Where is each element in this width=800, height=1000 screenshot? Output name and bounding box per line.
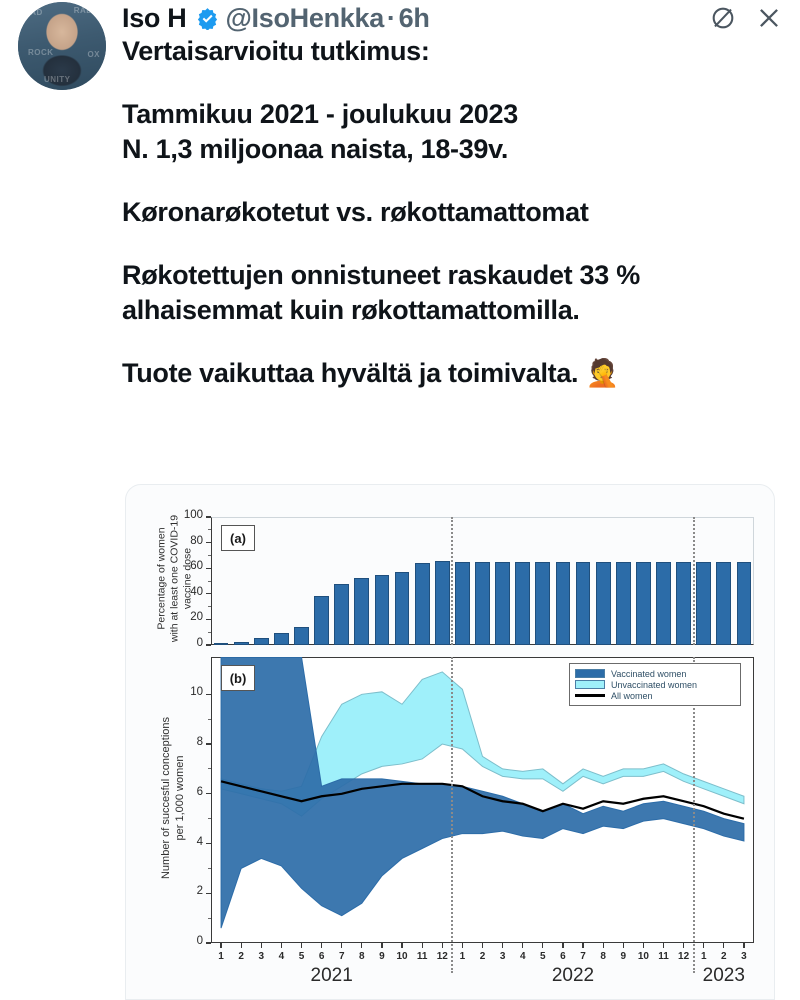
panel-b-ytick — [206, 743, 211, 744]
xtick — [261, 943, 262, 948]
header-actions — [710, 0, 782, 36]
panel-a-yminortick — [208, 606, 211, 607]
xtick — [603, 943, 604, 948]
panel-a-ylabel: Percentage of womenwith at least one COV… — [156, 494, 195, 664]
avatar-text-5: UNITY — [44, 75, 71, 84]
panel-a-yminortick — [208, 555, 211, 556]
xtick-label-month: 9 — [614, 951, 632, 962]
xtick — [281, 943, 282, 948]
panel-b-ytick — [206, 942, 211, 943]
tweet-line: Tammikuu 2021 - joulukuu 2023 — [122, 97, 782, 133]
legend-item: Unvaccinated women — [575, 679, 734, 690]
tweet-paragraph: Røkotettujen onnistuneet raskaudet 33 %a… — [122, 258, 782, 329]
bar-vaccination-rate — [214, 643, 229, 645]
xtick — [743, 943, 744, 948]
tweet-paragraph: Køronarøkotetut vs. røkottamattomat — [122, 195, 782, 231]
xtick-label-month: 4 — [514, 951, 532, 962]
tweet-paragraph: Tuote vaikuttaa hyvältä ja toimivalta. 🤦 — [122, 356, 782, 392]
tweet-paragraph: Vertaisarvioitu tutkimus: — [122, 34, 782, 70]
avatar-text-4: OX — [87, 50, 100, 59]
xtick — [703, 943, 704, 948]
xtick-label-month: 5 — [534, 951, 552, 962]
xtick — [482, 943, 483, 948]
panel-a-ytick — [206, 542, 211, 543]
bar-vaccination-rate — [334, 584, 349, 645]
xtick — [341, 943, 342, 948]
panel-a-yminortick — [208, 529, 211, 530]
legend-swatch — [575, 680, 605, 689]
bar-vaccination-rate — [375, 575, 390, 645]
tweet-paragraph: Tammikuu 2021 - joulukuu 2023N. 1,3 milj… — [122, 97, 782, 168]
bar-vaccination-rate — [535, 562, 550, 645]
panel-a-yminortick — [208, 632, 211, 633]
xtick — [562, 943, 563, 948]
bar-vaccination-rate — [556, 562, 571, 645]
xtick — [723, 943, 724, 948]
panel-a-ylabel-line: vaccine dose — [182, 494, 195, 664]
bar-vaccination-rate — [395, 572, 410, 645]
tweet-line: N. 1,3 miljoonaa naista, 18-39v. — [122, 132, 782, 168]
bar-vaccination-rate — [576, 562, 591, 645]
year-boundary-vline — [693, 517, 695, 645]
xtick-label-month: 2 — [715, 951, 733, 962]
panel-b-yminortick — [208, 918, 211, 919]
xtick — [542, 943, 543, 948]
mute-icon[interactable] — [710, 5, 736, 31]
panel-b-yminortick — [208, 818, 211, 819]
panel-a-ytick — [206, 619, 211, 620]
xtick-label-month: 6 — [554, 951, 572, 962]
panel-b-yminortick — [208, 768, 211, 769]
xtick-label-month: 3 — [735, 951, 753, 962]
xtick — [502, 943, 503, 948]
xtick-label-month: 11 — [413, 951, 431, 962]
xaxis-year-label: 2023 — [694, 965, 754, 987]
panel-b-ylabel-line: per 1,000 women — [173, 688, 187, 908]
panel-a-ytick — [206, 593, 211, 594]
xtick — [241, 943, 242, 948]
legend-swatch-line — [575, 694, 605, 697]
xtick-label-month: 1 — [695, 951, 713, 962]
xaxis-year-label: 2021 — [211, 965, 452, 987]
handle: @IsoHenkka — [226, 3, 384, 33]
xtick — [462, 943, 463, 948]
panel-b-ytick — [206, 694, 211, 695]
xtick — [401, 943, 402, 948]
xtick — [683, 943, 684, 948]
xtick-label-month: 3 — [252, 951, 270, 962]
bar-vaccination-rate — [616, 562, 631, 645]
legend-label: All women — [611, 691, 653, 701]
xtick-label-month: 12 — [675, 951, 693, 962]
bar-vaccination-rate — [254, 638, 269, 645]
avatar-text-2: RADIO — [74, 6, 102, 15]
legend-item: Vaccinated women — [575, 668, 734, 679]
bar-vaccination-rate — [455, 562, 470, 645]
xtick-label-month: 2 — [232, 951, 250, 962]
avatar-overlay-text: RAD RADIO ROCK OX UNITY — [18, 2, 106, 90]
panel-a-label: (a) — [221, 525, 255, 551]
figure-conception-rates: 020406080100(a)Percentage of womenwith a… — [126, 485, 774, 999]
bar-vaccination-rate — [737, 562, 752, 645]
panel-b-yminortick — [208, 719, 211, 720]
xtick — [623, 943, 624, 948]
panel-b-ylabel: Number of succesful conceptionsper 1,000… — [159, 688, 187, 908]
xtick — [663, 943, 664, 948]
panel-a-ylabel-line: with at least one COVID-19 — [169, 494, 182, 664]
xtick-label-month: 10 — [393, 951, 411, 962]
bar-vaccination-rate — [274, 633, 289, 645]
xtick-label-month: 9 — [373, 951, 391, 962]
xtick — [522, 943, 523, 948]
tweet-text: Vertaisarvioitu tutkimus:Tammikuu 2021 -… — [122, 34, 782, 391]
xtick — [422, 943, 423, 948]
panel-b-ytick — [206, 793, 211, 794]
legend-item: All women — [575, 690, 734, 701]
panel-b-ytick-label: 0 — [173, 935, 203, 947]
bar-vaccination-rate — [676, 562, 691, 645]
avatar-text-3: ROCK — [28, 48, 54, 57]
legend-label: Vaccinated women — [611, 669, 686, 679]
xtick-label-month: 8 — [594, 951, 612, 962]
tweet-author-row: Iso H @IsoHenkka·6h — [122, 0, 430, 36]
tweet-line: Vertaisarvioitu tutkimus: — [122, 34, 782, 70]
bar-vaccination-rate — [435, 561, 450, 645]
panel-b-label: (b) — [221, 665, 255, 691]
bar-vaccination-rate — [294, 627, 309, 645]
bar-vaccination-rate — [596, 562, 611, 645]
separator-dot: · — [384, 3, 399, 33]
xtick — [643, 943, 644, 948]
bar-vaccination-rate — [636, 562, 651, 645]
bar-vaccination-rate — [234, 642, 249, 645]
handle-and-timestamp[interactable]: @IsoHenkka·6h — [226, 3, 430, 34]
xtick-label-month: 11 — [655, 951, 673, 962]
xtick — [301, 943, 302, 948]
year-boundary-vline — [451, 517, 453, 645]
panel-a-ytick — [206, 516, 211, 517]
xtick — [220, 943, 221, 948]
xtick-label-month: 2 — [474, 951, 492, 962]
tweet-media-card[interactable]: 020406080100(a)Percentage of womenwith a… — [125, 484, 775, 1000]
panel-b-legend: Vaccinated womenUnvaccinated womenAll wo… — [569, 663, 741, 706]
tweet-line: alhaisemmat kuin røkottamattomilla. — [122, 293, 782, 329]
xtick — [361, 943, 362, 948]
bar-vaccination-rate — [475, 562, 490, 645]
bar-vaccination-rate — [656, 562, 671, 645]
tweet-line: Røkotettujen onnistuneet raskaudet 33 % — [122, 258, 782, 294]
verified-badge-icon — [196, 7, 219, 30]
panel-b-yminortick — [208, 868, 211, 869]
avatar[interactable]: RAD RADIO ROCK OX UNITY — [18, 2, 106, 90]
xtick-label-month: 3 — [494, 951, 512, 962]
display-name[interactable]: Iso H — [122, 3, 187, 34]
bar-vaccination-rate — [716, 562, 731, 645]
xtick — [381, 943, 382, 948]
year-boundary-vline — [451, 657, 453, 973]
xtick-label-month: 7 — [574, 951, 592, 962]
xaxis-year-label: 2022 — [452, 965, 693, 987]
xtick-label-month: 4 — [272, 951, 290, 962]
xtick — [582, 943, 583, 948]
panel-b-ytick — [206, 843, 211, 844]
xtick-label-month: 10 — [634, 951, 652, 962]
panel-b-ylabel-line: Number of succesful conceptions — [159, 688, 173, 908]
xtick-label-month: 12 — [433, 951, 451, 962]
bar-vaccination-rate — [515, 562, 530, 645]
panel-b-ytick — [206, 893, 211, 894]
legend-swatch — [575, 669, 605, 678]
panel-a-yminortick — [208, 581, 211, 582]
timestamp: 6h — [399, 3, 430, 33]
close-icon[interactable] — [756, 5, 782, 31]
xtick-label-month: 5 — [293, 951, 311, 962]
xtick-label-month: 1 — [453, 951, 471, 962]
bar-vaccination-rate — [696, 562, 711, 645]
legend-label: Unvaccinated women — [611, 680, 697, 690]
xtick — [442, 943, 443, 948]
tweet-line: Tuote vaikuttaa hyvältä ja toimivalta. 🤦 — [122, 356, 782, 392]
tweet-line: Køronarøkotetut vs. røkottamattomat — [122, 195, 782, 231]
bar-vaccination-rate — [495, 562, 510, 645]
xtick-label-month: 8 — [353, 951, 371, 962]
bar-vaccination-rate — [354, 578, 369, 645]
xtick-label-month: 7 — [333, 951, 351, 962]
panel-a-ytick — [206, 568, 211, 569]
bar-vaccination-rate — [415, 563, 430, 645]
panel-a-ylabel-line: Percentage of women — [156, 494, 169, 664]
xtick-label-month: 6 — [313, 951, 331, 962]
bar-vaccination-rate — [314, 596, 329, 645]
panel-a-ytick — [206, 644, 211, 645]
xtick-label-month: 1 — [212, 951, 230, 962]
avatar-text-1: RAD — [24, 8, 43, 17]
xtick — [321, 943, 322, 948]
